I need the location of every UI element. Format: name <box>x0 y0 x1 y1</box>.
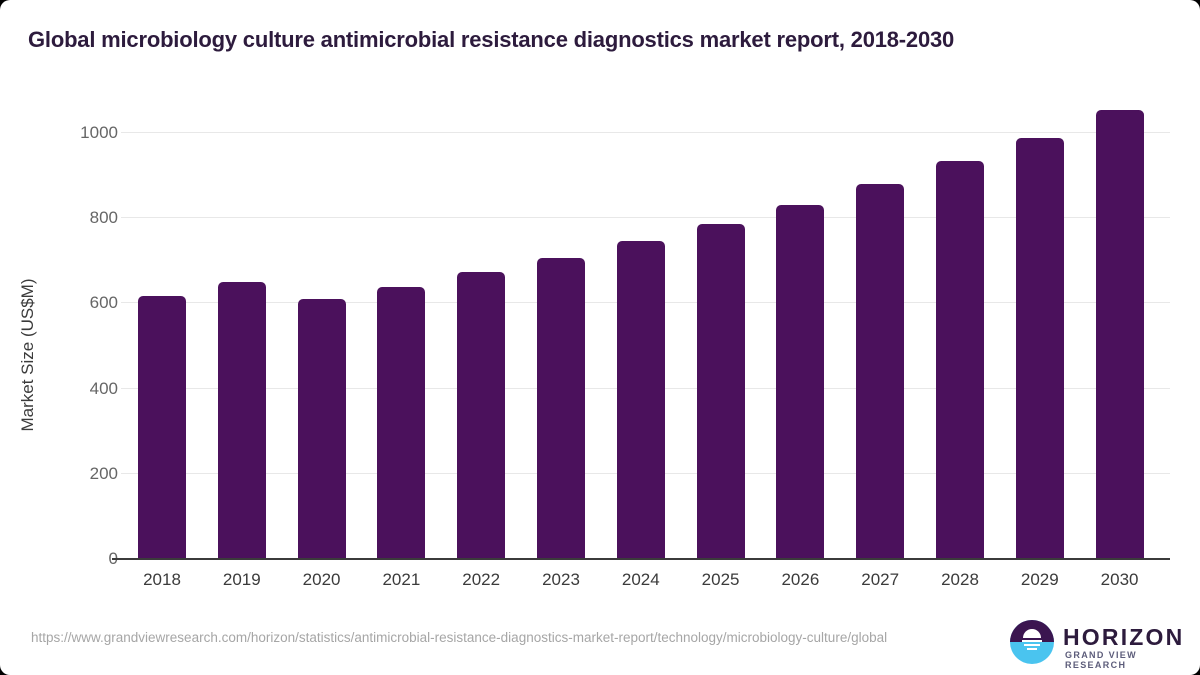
gridline <box>121 217 1170 218</box>
bar-2027[interactable] <box>856 184 904 558</box>
x-axis-tick-label-2021: 2021 <box>361 570 441 590</box>
bar-2018[interactable] <box>138 296 186 558</box>
x-axis-line <box>112 558 1170 560</box>
gridline <box>121 132 1170 133</box>
logo-ray-2 <box>1024 644 1040 646</box>
x-axis-tick-label-2025: 2025 <box>681 570 761 590</box>
logo-ray-1 <box>1022 640 1042 642</box>
y-axis-title: Market Size (US$M) <box>18 205 38 505</box>
x-axis-tick-label-2019: 2019 <box>202 570 282 590</box>
y-axis-tick-label: 400 <box>44 379 118 399</box>
x-axis-tick-label-2028: 2028 <box>920 570 1000 590</box>
logo-wordmark: HORIZON <box>1063 624 1184 651</box>
chart-card: Global microbiology culture antimicrobia… <box>0 0 1200 675</box>
bar-2029[interactable] <box>1016 138 1064 558</box>
x-axis-tick-label-2020: 2020 <box>282 570 362 590</box>
bar-2021[interactable] <box>377 287 425 558</box>
bar-2024[interactable] <box>617 241 665 558</box>
chart-plot-area: 02004006008001000 Market Size (US$M) 201… <box>0 0 1200 675</box>
bar-2023[interactable] <box>537 258 585 558</box>
x-axis-tick-label-2022: 2022 <box>441 570 521 590</box>
y-axis-tick-label: 600 <box>44 293 118 313</box>
x-axis-tick-label-2029: 2029 <box>1000 570 1080 590</box>
bar-2020[interactable] <box>298 299 346 558</box>
bar-2028[interactable] <box>936 161 984 558</box>
bar-2030[interactable] <box>1096 110 1144 558</box>
horizon-logo: HORIZON GRAND VIEW RESEARCH <box>1010 618 1175 666</box>
bar-2019[interactable] <box>218 282 266 558</box>
bar-2025[interactable] <box>697 224 745 558</box>
y-axis-tick-label: 200 <box>44 464 118 484</box>
y-axis-tick-label: 1000 <box>44 123 118 143</box>
y-axis-tick-label: 0 <box>44 549 118 569</box>
horizon-sun-circle-icon <box>1010 620 1054 664</box>
source-url[interactable]: https://www.grandviewresearch.com/horizo… <box>31 628 931 647</box>
x-axis-tick-label-2027: 2027 <box>840 570 920 590</box>
logo-ray-3 <box>1027 648 1037 650</box>
x-axis-tick-label-2023: 2023 <box>521 570 601 590</box>
logo-subtitle: GRAND VIEW RESEARCH <box>1065 650 1175 670</box>
bar-2026[interactable] <box>776 205 824 558</box>
x-axis-tick-label-2024: 2024 <box>601 570 681 590</box>
x-axis-tick-label-2018: 2018 <box>122 570 202 590</box>
x-axis-tick-label-2030: 2030 <box>1080 570 1160 590</box>
x-axis-tick-label-2026: 2026 <box>760 570 840 590</box>
bar-2022[interactable] <box>457 272 505 558</box>
y-axis-tick-label: 800 <box>44 208 118 228</box>
